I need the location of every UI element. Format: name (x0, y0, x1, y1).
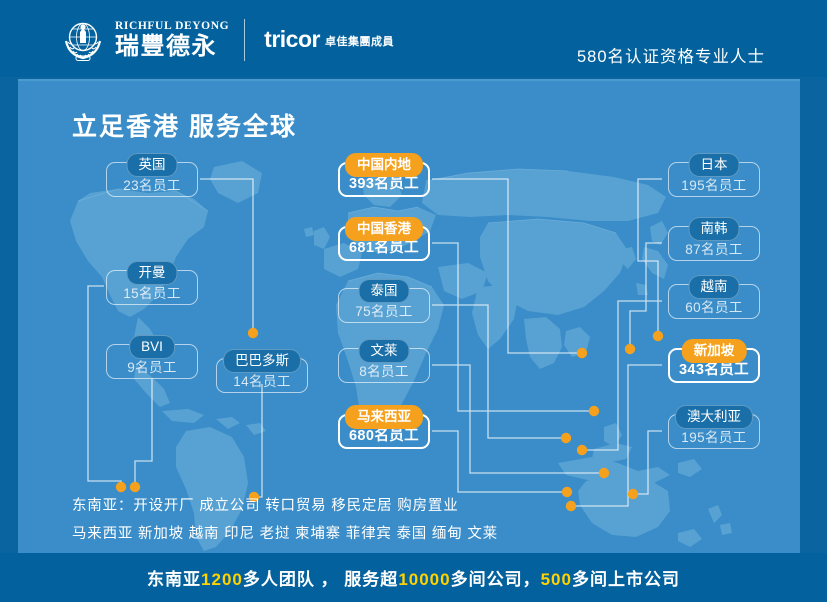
logo-divider (244, 19, 245, 61)
page-header: RICHFUL DEYONG 瑞豐德永 tricor 卓佳集團成員 580名认证… (0, 0, 827, 77)
location-count: 195名员工 (681, 178, 746, 193)
main-panel: 立足香港 服务全球 (18, 79, 800, 553)
location-name-pill: 开曼 (127, 261, 178, 285)
location-name-pill: 澳大利亚 (675, 405, 753, 429)
footer-highlight-number: 1200 (201, 570, 243, 589)
logo-chinese-name: 瑞豐德永 (115, 33, 229, 60)
partner-logo: tricor 卓佳集團成員 (264, 27, 394, 53)
singapore-marker[interactable] (566, 501, 576, 511)
footer-highlight-number: 500 (541, 570, 572, 589)
note-line-2: 马来西亚 新加坡 越南 印尼 老挝 柬埔寨 菲律宾 泰国 缅甸 文莱 (72, 522, 498, 543)
footer-statistics-text: 东南亚1200多人团队 ， 服务超10000多间公司，500多间上市公司 (147, 565, 680, 590)
location-count: 195名员工 (681, 430, 746, 445)
location-name-pill: 新加坡 (682, 339, 747, 363)
malaysia-marker[interactable] (562, 487, 572, 497)
note-line-1: 东南亚：开设开厂 成立公司 转口贸易 移民定居 购房置业 (72, 494, 459, 515)
hongkong-marker[interactable] (589, 406, 599, 416)
uk-marker[interactable] (248, 328, 258, 338)
location-count: 8名员工 (359, 364, 409, 379)
location-count: 75名员工 (355, 304, 413, 319)
location-count: 14名员工 (233, 374, 291, 389)
location-name-pill: 文莱 (359, 339, 410, 363)
philippines-mk[interactable] (599, 468, 609, 478)
location-name-pill: 泰国 (359, 279, 410, 303)
footer-text-segment: 多人团队 ， 服务超 (243, 570, 398, 589)
location-count: 23名员工 (123, 178, 181, 193)
location-name-pill: 越南 (689, 275, 740, 299)
korea-marker[interactable] (625, 344, 635, 354)
location-name-pill: 中国香港 (345, 217, 423, 241)
footer-text-segment: 多间公司， (451, 570, 541, 589)
location-name-pill: 巴巴多斯 (223, 349, 301, 373)
japan-marker[interactable] (653, 331, 663, 341)
logo-wordmark: RICHFUL DEYONG 瑞豐德永 (115, 20, 229, 60)
australia-marker[interactable] (628, 489, 638, 499)
location-count: 15名员工 (123, 286, 181, 301)
location-count: 60名员工 (685, 300, 743, 315)
location-count: 343名员工 (679, 363, 749, 378)
partner-chinese-name: 卓佳集團成員 (325, 35, 394, 51)
location-count: 681名员工 (349, 241, 419, 256)
logo-english-name: RICHFUL DEYONG (115, 20, 229, 33)
location-name-pill: 日本 (689, 153, 740, 177)
location-count: 680名员工 (349, 429, 419, 444)
footer-text-segment: 东南亚 (147, 570, 201, 589)
location-name-pill: BVI (129, 335, 175, 359)
crest-emblem-icon (60, 17, 106, 63)
location-name-pill: 中国内地 (345, 153, 423, 177)
location-count: 87名员工 (685, 242, 743, 257)
vietnam-marker[interactable] (577, 445, 587, 455)
cayman-marker[interactable] (116, 482, 126, 492)
brand-logo[interactable]: RICHFUL DEYONG 瑞豐德永 tricor 卓佳集團成員 (60, 17, 394, 63)
page-footer: 东南亚1200多人团队 ， 服务超10000多间公司，500多间上市公司 (0, 553, 827, 602)
location-count: 393名员工 (349, 177, 419, 192)
location-name-pill: 南韩 (689, 217, 740, 241)
location-count: 9名员工 (127, 360, 177, 375)
footer-text-segment: 多间上市公司 (572, 570, 680, 589)
location-name-pill: 英国 (127, 153, 178, 177)
header-tagline: 580名认证资格专业人士 (577, 43, 765, 67)
footer-highlight-number: 10000 (398, 570, 450, 589)
china-marker[interactable] (577, 348, 587, 358)
thailand-marker[interactable] (561, 433, 571, 443)
partner-english-name: tricor (264, 27, 320, 51)
bvi-marker[interactable] (130, 482, 140, 492)
location-name-pill: 马来西亚 (345, 405, 423, 429)
